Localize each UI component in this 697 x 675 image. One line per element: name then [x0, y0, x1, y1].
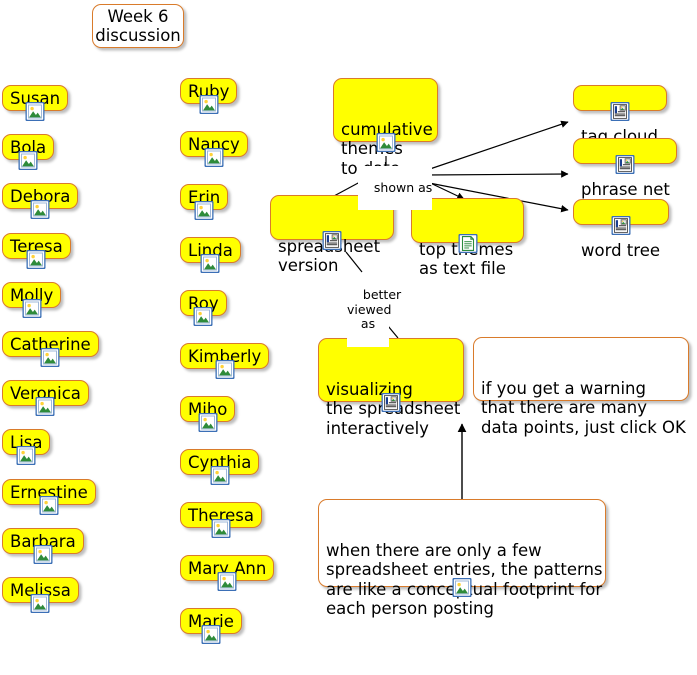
- participant-node[interactable]: Roy: [180, 290, 227, 316]
- participant-node[interactable]: Veronica: [2, 380, 89, 406]
- image-icon[interactable]: [210, 466, 229, 485]
- image-icon[interactable]: [201, 625, 220, 644]
- link-label-better-viewed-as[interactable]: better viewed as: [347, 273, 389, 347]
- document-image-icon[interactable]: [611, 102, 630, 121]
- node-phrase-net[interactable]: phrase net: [573, 138, 677, 164]
- participant-node[interactable]: Miho: [180, 396, 235, 422]
- participant-node[interactable]: Theresa: [180, 502, 262, 528]
- node-word-tree[interactable]: word tree: [573, 199, 669, 225]
- concept-map-canvas: Week 6 discussion SusanBolaDeboraTeresaM…: [0, 0, 697, 665]
- note-warning-label: if you get a warning that there are many…: [481, 379, 681, 436]
- link-shownas-to-tagcloud: [424, 122, 568, 171]
- participant-node[interactable]: Lisa: [2, 429, 50, 455]
- image-icon[interactable]: [215, 360, 234, 379]
- image-icon[interactable]: [39, 496, 58, 515]
- title-node[interactable]: Week 6 discussion: [92, 4, 184, 48]
- image-icon[interactable]: [31, 594, 50, 613]
- document-image-icon[interactable]: [612, 216, 631, 235]
- note-warning[interactable]: if you get a warning that there are many…: [473, 337, 689, 401]
- participant-node[interactable]: Bola: [2, 134, 54, 160]
- node-phrase-net-label: phrase net: [581, 180, 669, 199]
- image-icon[interactable]: [19, 151, 38, 170]
- link-label-shown-as[interactable]: shown as: [358, 166, 432, 210]
- link-shownas-to-phrasenet: [425, 174, 568, 175]
- participant-node[interactable]: Teresa: [2, 233, 71, 259]
- image-icon[interactable]: [33, 545, 52, 564]
- image-icon[interactable]: [26, 102, 45, 121]
- image-icon[interactable]: [201, 254, 220, 273]
- image-icon[interactable]: [211, 519, 230, 538]
- participant-node[interactable]: Erin: [180, 184, 228, 210]
- text-file-icon[interactable]: [458, 234, 477, 253]
- link-label-shown-as-text: shown as: [374, 180, 432, 195]
- image-icon[interactable]: [204, 148, 223, 167]
- image-icon[interactable]: [22, 299, 41, 318]
- image-icon[interactable]: [376, 133, 395, 152]
- document-image-icon[interactable]: [323, 231, 342, 250]
- participant-node[interactable]: Marie: [180, 608, 242, 634]
- document-image-icon[interactable]: [616, 155, 635, 174]
- node-word-tree-label: word tree: [581, 241, 661, 260]
- participant-node[interactable]: Debora: [2, 183, 78, 209]
- image-icon[interactable]: [41, 348, 60, 367]
- node-tag-cloud[interactable]: tag cloud: [573, 85, 667, 111]
- node-visualizing[interactable]: visualizing the spreadsheet interactivel…: [318, 338, 464, 402]
- participant-node[interactable]: Molly: [2, 282, 61, 308]
- image-icon[interactable]: [198, 413, 217, 432]
- image-icon[interactable]: [218, 572, 237, 591]
- document-image-icon[interactable]: [382, 393, 401, 412]
- participant-node[interactable]: Mary Ann: [180, 555, 274, 581]
- image-icon[interactable]: [195, 201, 214, 220]
- participant-node[interactable]: Barbara: [2, 528, 84, 554]
- participant-node[interactable]: Susan: [2, 85, 68, 111]
- note-footprint[interactable]: when there are only a few spreadsheet en…: [318, 499, 606, 587]
- image-icon[interactable]: [199, 95, 218, 114]
- image-icon[interactable]: [31, 200, 50, 219]
- image-icon[interactable]: [194, 307, 213, 326]
- participant-node[interactable]: Nancy: [180, 131, 248, 157]
- participant-node[interactable]: Melissa: [2, 577, 79, 603]
- participant-node[interactable]: Cynthia: [180, 449, 259, 475]
- image-icon[interactable]: [453, 578, 472, 597]
- participant-node[interactable]: Linda: [180, 237, 241, 263]
- image-icon[interactable]: [17, 446, 36, 465]
- title-node-label: Week 6 discussion: [95, 7, 181, 45]
- participant-node[interactable]: Kimberly: [180, 343, 269, 369]
- participant-node[interactable]: Ruby: [180, 78, 237, 104]
- link-label-better-viewed-as-text: better viewed as: [347, 287, 401, 332]
- participant-node[interactable]: Catherine: [2, 331, 99, 357]
- participant-node[interactable]: Ernestine: [2, 479, 96, 505]
- image-icon[interactable]: [36, 397, 55, 416]
- image-icon[interactable]: [27, 250, 46, 269]
- node-cumulative-themes[interactable]: cumulative themes to date: [333, 78, 438, 142]
